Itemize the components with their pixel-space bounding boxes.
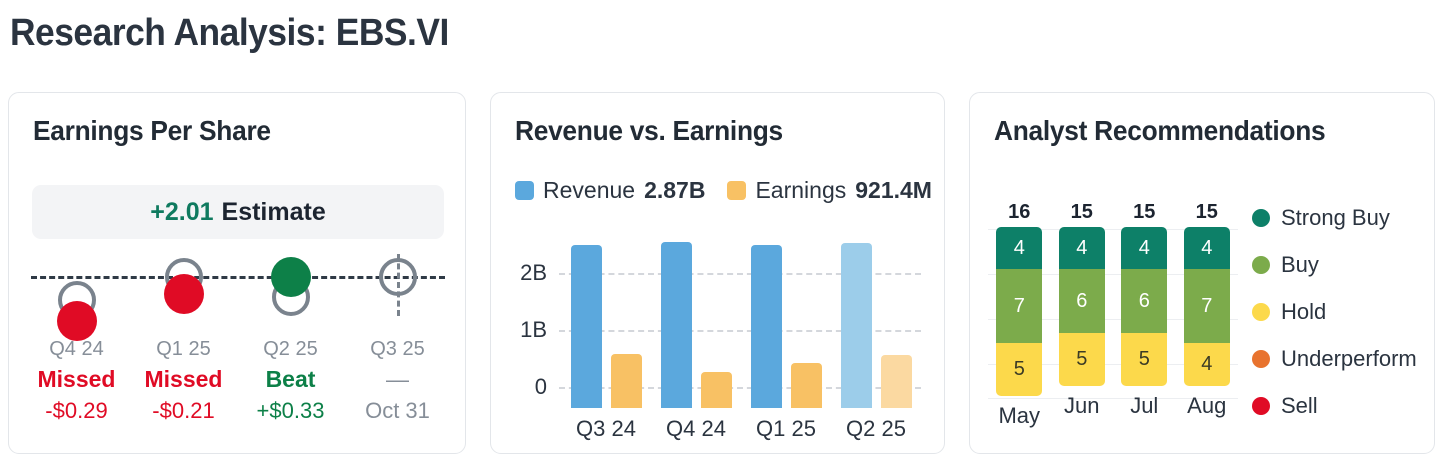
legend-item-buy[interactable]: Buy: [1252, 252, 1417, 278]
y-axis-tick-0: 0: [491, 374, 547, 400]
legend-value: 2.87B: [644, 177, 705, 204]
legend-label: Sell: [1281, 393, 1318, 419]
eps-status-label: Missed: [23, 366, 130, 393]
y-axis-tick-2b: 2B: [491, 260, 547, 286]
bar-groups: [561, 233, 921, 408]
legend-item-hold[interactable]: Hold: [1252, 299, 1417, 325]
eps-delta-label: -$0.21: [130, 398, 237, 424]
eps-marker: [237, 248, 344, 336]
segment-buy: 6: [1059, 269, 1105, 333]
segment-hold: 4: [1184, 343, 1230, 386]
rec-stack: 4 6 5: [1059, 227, 1105, 386]
eps-marker: [344, 248, 451, 336]
earnings-bar: [701, 372, 732, 408]
segment-hold: 5: [1059, 333, 1105, 386]
eps-delta-label: Oct 31: [344, 398, 451, 424]
rec-total-label: 15: [1071, 201, 1093, 224]
legend-label: Strong Buy: [1281, 205, 1390, 231]
revenue-bar-estimate: [841, 243, 872, 408]
earnings-bar: [791, 363, 822, 408]
segment-strong-buy: 4: [996, 227, 1042, 269]
eps-period-label: Q2 25: [237, 338, 344, 361]
eps-marker: [130, 248, 237, 336]
analyst-recommendations-card: Analyst Recommendations 16 4 7 5: [969, 92, 1435, 454]
eps-delta-label: -$0.29: [23, 398, 130, 424]
segment-hold: 5: [1121, 333, 1167, 386]
rec-column-jun[interactable]: 15 4 6 5 Jun: [1051, 201, 1114, 441]
rec-column-aug[interactable]: 15 4 7 4 Aug: [1176, 201, 1239, 441]
revenue-bar-chart: 2B 1B 0: [491, 223, 946, 448]
revenue-bar: [751, 245, 782, 408]
segment-buy: 7: [996, 269, 1042, 343]
legend-item-sell[interactable]: Sell: [1252, 393, 1417, 419]
legend-label: Earnings: [755, 177, 846, 204]
eps-period-label: Q4 24: [23, 338, 130, 361]
rec-total-label: 15: [1133, 201, 1155, 224]
recommendation-columns: 16 4 7 5 May 15 4 6 5: [988, 201, 1238, 441]
eps-quarter-q2-25[interactable]: Q2 25 Beat +$0.33: [237, 248, 344, 424]
segment-hold: 5: [996, 343, 1042, 396]
eps-quarter-q3-25[interactable]: Q3 25 — Oct 31: [344, 248, 451, 424]
legend-label: Revenue: [543, 177, 635, 204]
legend-label: Hold: [1281, 299, 1326, 325]
eps-status-label: —: [344, 366, 451, 393]
eps-actual-dot-icon: [164, 274, 204, 314]
recommendations-card-title: Analyst Recommendations: [994, 115, 1325, 147]
eps-status-label: Missed: [130, 366, 237, 393]
earnings-swatch-icon: [727, 181, 746, 200]
buy-dot-icon: [1252, 256, 1270, 274]
revenue-bar: [571, 245, 602, 408]
eps-status-label: Beat: [237, 366, 344, 393]
research-analysis-page: Research Analysis: EBS.VI Earnings Per S…: [0, 0, 1440, 474]
rec-column-may[interactable]: 16 4 7 5 May: [988, 201, 1051, 441]
eps-quarter-columns: Q4 24 Missed -$0.29 Q1 25 Missed -$0.21: [23, 248, 453, 424]
rec-stack: 4 7 4: [1184, 227, 1230, 386]
eps-card-title: Earnings Per Share: [33, 115, 271, 147]
bar-group-q4-24[interactable]: [651, 233, 741, 408]
rec-month-label: Aug: [1187, 393, 1226, 419]
bar-group-q2-25[interactable]: [831, 233, 921, 408]
legend-label: Underperform: [1281, 346, 1417, 372]
y-axis-tick-1b: 1B: [491, 317, 547, 343]
segment-buy: 7: [1184, 269, 1230, 343]
revenue-bar: [661, 242, 692, 408]
x-axis-label: Q2 25: [831, 416, 921, 442]
eps-actual-dot-icon: [271, 257, 311, 297]
x-axis-labels: Q3 24 Q4 24 Q1 25 Q2 25: [561, 416, 921, 442]
earnings-bar: [611, 354, 642, 408]
eps-quarter-q4-24[interactable]: Q4 24 Missed -$0.29: [23, 248, 130, 424]
rec-stack: 4 6 5: [1121, 227, 1167, 386]
eps-quarter-q1-25[interactable]: Q1 25 Missed -$0.21: [130, 248, 237, 424]
legend-item-revenue[interactable]: Revenue 2.87B: [515, 177, 705, 204]
eps-period-label: Q1 25: [130, 338, 237, 361]
eps-actual-dot-icon: [57, 301, 97, 341]
page-title: Research Analysis: EBS.VI: [10, 12, 449, 55]
recommendations-legend: Strong Buy Buy Hold Underperform Sell: [1252, 205, 1417, 419]
earnings-per-share-card: Earnings Per Share +2.01 Estimate Q4 24 …: [8, 92, 466, 454]
segment-strong-buy: 4: [1184, 227, 1230, 269]
revenue-vs-earnings-card: Revenue vs. Earnings Revenue 2.87B Earni…: [490, 92, 945, 454]
hold-dot-icon: [1252, 303, 1270, 321]
revenue-card-title: Revenue vs. Earnings: [515, 115, 783, 147]
x-axis-label: Q4 24: [651, 416, 741, 442]
legend-value: 921.4M: [855, 177, 932, 204]
bar-group-q1-25[interactable]: [741, 233, 831, 408]
eps-marker: [23, 248, 130, 336]
legend-item-underperform[interactable]: Underperform: [1252, 346, 1417, 372]
eps-delta-label: +$0.33: [237, 398, 344, 424]
eps-estimate-pill: +2.01 Estimate: [32, 185, 444, 239]
segment-strong-buy: 4: [1121, 227, 1167, 269]
x-axis-label: Q3 24: [561, 416, 651, 442]
strong-buy-dot-icon: [1252, 209, 1270, 227]
recommendations-stacked-chart: 16 4 7 5 May 15 4 6 5: [988, 201, 1238, 441]
rec-total-label: 16: [1008, 201, 1030, 224]
revenue-swatch-icon: [515, 181, 534, 200]
rec-total-label: 15: [1196, 201, 1218, 224]
cards-container: Earnings Per Share +2.01 Estimate Q4 24 …: [8, 92, 1435, 454]
underperform-dot-icon: [1252, 350, 1270, 368]
x-axis-label: Q1 25: [741, 416, 831, 442]
eps-timeline-chart: Q4 24 Missed -$0.29 Q1 25 Missed -$0.21: [9, 248, 467, 448]
sell-dot-icon: [1252, 397, 1270, 415]
rec-month-label: Jul: [1130, 393, 1158, 419]
rec-stack: 4 7 5: [996, 227, 1042, 396]
rec-month-label: Jun: [1064, 393, 1099, 419]
legend-item-strong-buy[interactable]: Strong Buy: [1252, 205, 1417, 231]
segment-buy: 6: [1121, 269, 1167, 333]
legend-item-earnings[interactable]: Earnings 921.4M: [727, 177, 932, 204]
eps-estimate-label: Estimate: [222, 198, 326, 227]
bar-group-q3-24[interactable]: [561, 233, 651, 408]
eps-estimate-value: +2.01: [150, 198, 213, 227]
earnings-bar-estimate: [881, 355, 912, 408]
revenue-legend: Revenue 2.87B Earnings 921.4M: [515, 177, 932, 204]
legend-label: Buy: [1281, 252, 1319, 278]
eps-period-label: Q3 25: [344, 338, 451, 361]
rec-column-jul[interactable]: 15 4 6 5 Jul: [1113, 201, 1176, 441]
eps-estimate-ring-icon: [379, 258, 417, 296]
rec-month-label: May: [998, 403, 1040, 429]
segment-strong-buy: 4: [1059, 227, 1105, 269]
